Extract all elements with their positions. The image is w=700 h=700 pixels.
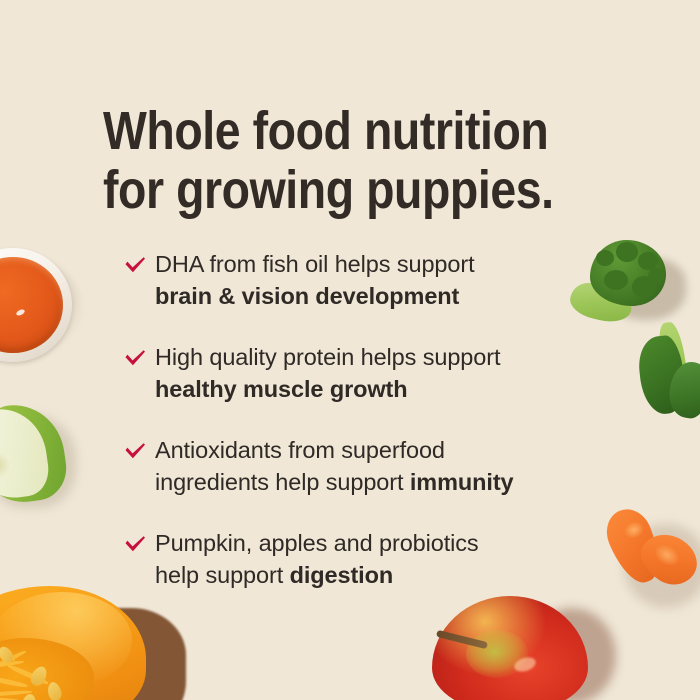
benefit-emphasis: brain & vision development	[155, 283, 459, 309]
benefit-line-1: DHA from fish oil helps support	[155, 248, 624, 280]
benefit-line-2: brain & vision development	[155, 280, 624, 312]
bowl-of-pumpkin-puree-image	[0, 248, 72, 362]
benefit-emphasis: immunity	[410, 469, 514, 495]
benefit-line-2-text: ingredients help support	[155, 469, 410, 495]
benefit-line-2-text: help support	[155, 562, 290, 588]
benefit-line-1: Pumpkin, apples and probiotics	[155, 527, 624, 559]
headline-line-1: Whole food nutrition	[103, 102, 567, 161]
check-icon	[124, 256, 146, 276]
benefit-line-2: healthy muscle growth	[155, 373, 624, 405]
page-title: Whole food nutrition for growing puppies…	[103, 102, 567, 220]
check-icon	[124, 442, 146, 462]
red-apple-image	[432, 596, 600, 700]
benefit-item-antioxidants: Antioxidants from superfood ingredients …	[124, 434, 624, 498]
headline-line-2: for growing puppies.	[103, 161, 567, 220]
benefit-item-protein: High quality protein helps support healt…	[124, 341, 624, 405]
pumpkin-seed	[20, 693, 37, 700]
benefit-emphasis: healthy muscle growth	[155, 376, 408, 402]
benefit-line-2: help support digestion	[155, 559, 624, 591]
benefit-item-dha: DHA from fish oil helps support brain & …	[124, 248, 624, 312]
pumpkin-half-image	[0, 586, 210, 700]
kale-leaf-image	[640, 322, 700, 414]
check-icon	[124, 349, 146, 369]
benefit-line-2: ingredients help support immunity	[155, 466, 624, 498]
green-apple-wedge-image	[0, 404, 72, 506]
benefit-line-1: Antioxidants from superfood	[155, 434, 624, 466]
benefit-emphasis: digestion	[290, 562, 394, 588]
benefit-line-1: High quality protein helps support	[155, 341, 624, 373]
benefits-list: DHA from fish oil helps support brain & …	[124, 248, 624, 591]
check-icon	[124, 535, 146, 555]
broccoli-bud	[648, 268, 664, 284]
product-benefits-banner: Whole food nutrition for growing puppies…	[0, 0, 700, 700]
pumpkin-seed	[46, 681, 63, 700]
benefit-item-digestion: Pumpkin, apples and probiotics help supp…	[124, 527, 624, 591]
